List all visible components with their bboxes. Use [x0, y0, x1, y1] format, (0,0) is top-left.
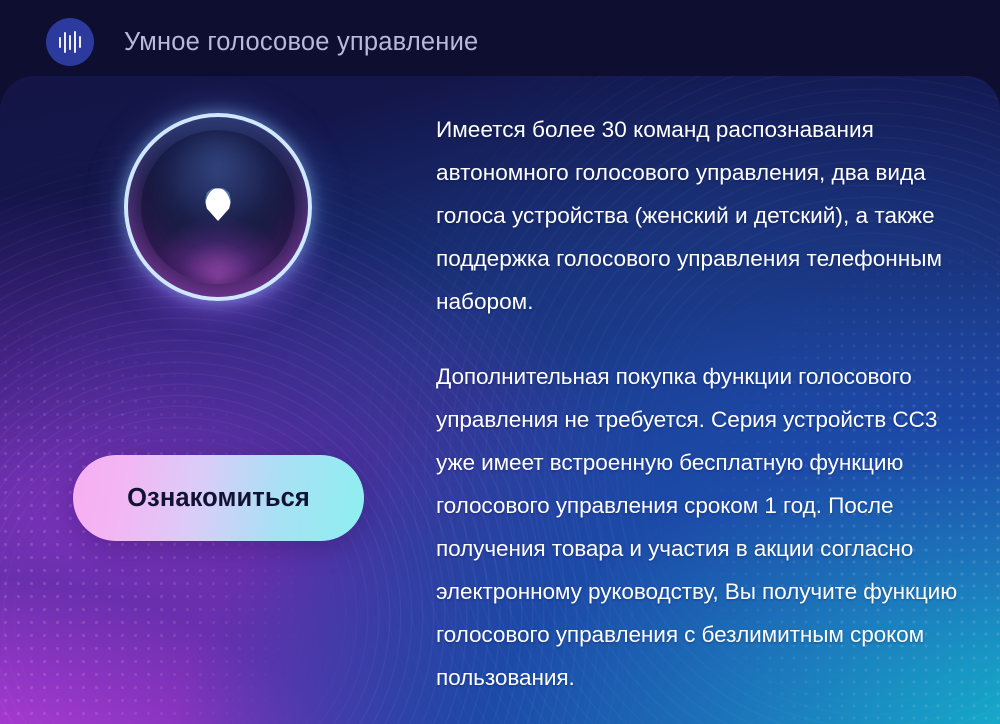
- paragraph-2: Дополнительная покупка функции голосовог…: [436, 355, 966, 699]
- description-column: Имеется более 30 команд распознавания ав…: [436, 108, 966, 699]
- voice-wave-bars-icon: [59, 30, 82, 54]
- promo-banner: Умное голосовое управление Ознакомиться …: [0, 0, 1000, 724]
- orb-ring: [124, 113, 312, 301]
- voice-wave-icon: [46, 18, 94, 66]
- voice-assistant-orb-icon: [124, 113, 312, 301]
- banner-header: Умное голосовое управление: [0, 0, 1000, 84]
- paragraph-1: Имеется более 30 команд распознавания ав…: [436, 108, 966, 323]
- learn-more-button[interactable]: Ознакомиться: [73, 455, 364, 541]
- page-title: Умное голосовое управление: [124, 28, 478, 57]
